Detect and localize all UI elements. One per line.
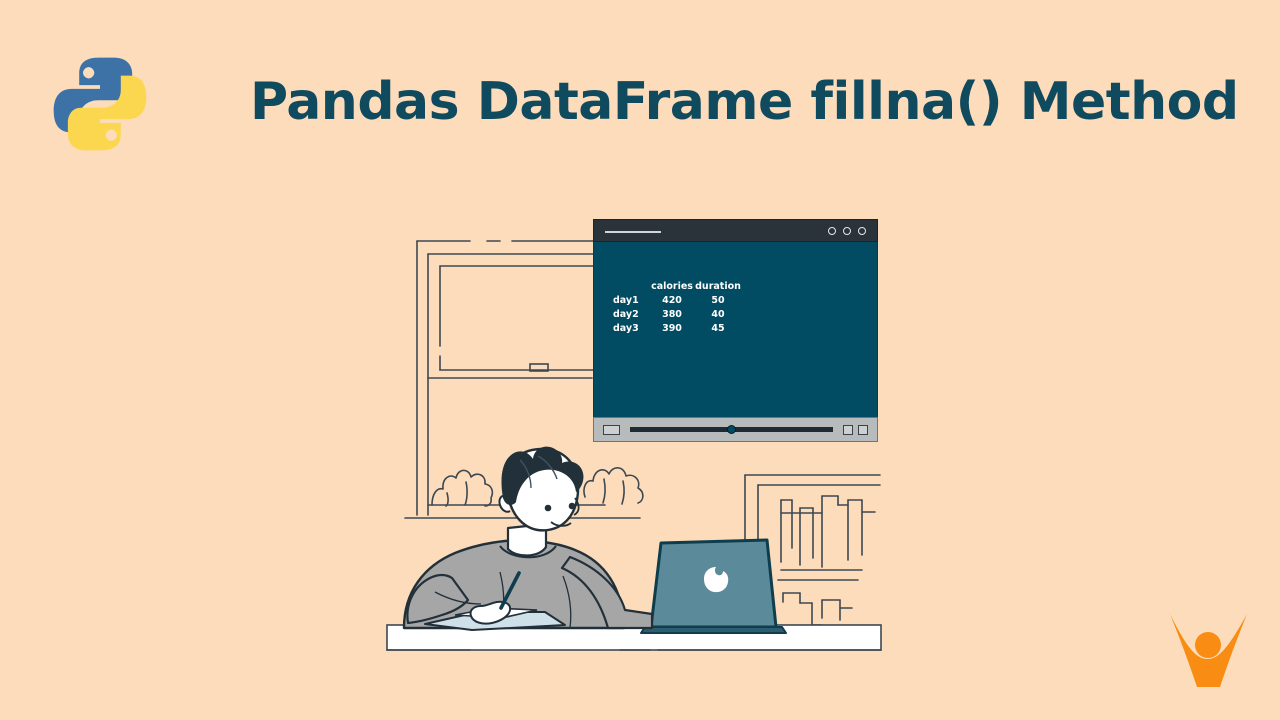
row-index-day1: day1 <box>613 293 649 307</box>
titlebar-dot-1[interactable] <box>828 227 836 235</box>
progress-handle[interactable] <box>727 425 736 434</box>
control-buttons-group <box>843 425 868 435</box>
video-player-window[interactable]: calories duration day1 420 50 day2 380 4… <box>593 219 878 442</box>
python-logo <box>48 52 152 156</box>
cell-day3-calories: 390 <box>649 321 695 335</box>
cell-day1-duration: 50 <box>695 293 741 307</box>
cell-day1-calories: 420 <box>649 293 695 307</box>
fullscreen-button-icon[interactable] <box>858 425 868 435</box>
video-controls-bar[interactable] <box>593 417 878 442</box>
header: Pandas DataFrame fillna() Method <box>0 0 1280 175</box>
captions-button-icon[interactable] <box>843 425 853 435</box>
titlebar-dots <box>828 227 866 235</box>
laptop <box>641 540 786 633</box>
titlebar-dot-3[interactable] <box>858 227 866 235</box>
row-index-day3: day3 <box>613 321 649 335</box>
column-header-duration: duration <box>695 279 741 293</box>
table-row: day2 380 40 <box>613 307 741 321</box>
progress-slider[interactable] <box>630 427 833 432</box>
page-title: Pandas DataFrame fillna() Method <box>250 62 1150 142</box>
student-figure <box>404 447 652 630</box>
table-row: day1 420 50 <box>613 293 741 307</box>
table-corner-cell <box>613 279 649 293</box>
video-screen: calories duration day1 420 50 day2 380 4… <box>593 242 878 417</box>
cell-day3-duration: 45 <box>695 321 741 335</box>
table-header-row: calories duration <box>613 279 741 293</box>
video-titlebar <box>593 219 878 242</box>
column-header-calories: calories <box>649 279 695 293</box>
table-row: day3 390 45 <box>613 321 741 335</box>
row-index-day2: day2 <box>613 307 649 321</box>
cell-day2-duration: 40 <box>695 307 741 321</box>
titlebar-url-line <box>605 231 661 233</box>
stop-button-icon[interactable] <box>603 425 620 435</box>
calories-duration-dataframe: calories duration day1 420 50 day2 380 4… <box>613 279 741 335</box>
favtutor-logo <box>1152 592 1262 702</box>
cell-day2-calories: 380 <box>649 307 695 321</box>
titlebar-dot-2[interactable] <box>843 227 851 235</box>
slide-canvas: Pandas DataFrame fillna() Method calorie… <box>0 0 1280 720</box>
